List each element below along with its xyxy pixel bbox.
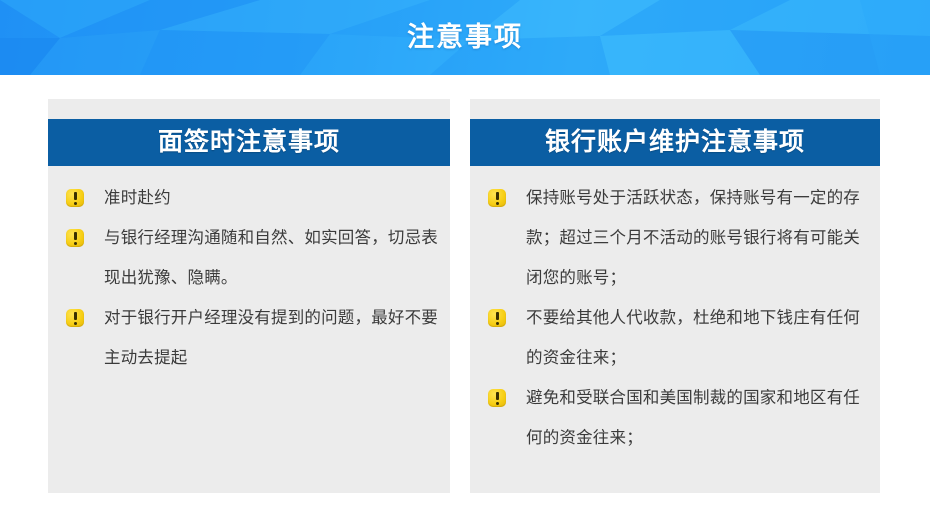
card-title-account-maintenance-notes: 银行账户维护注意事项: [470, 119, 880, 166]
page-title: 注意事项: [0, 0, 930, 75]
warning-exclamation-icon: [488, 309, 506, 327]
warning-exclamation-icon: [66, 189, 84, 207]
warning-exclamation-icon: [66, 309, 84, 327]
list-item-text: 准时赴约: [104, 189, 171, 207]
list-item-text: 避免和受联合国和美国制裁的国家和地区有任何的资金往来；: [526, 389, 860, 447]
card-header-interview-notes: 面签时注意事项: [48, 119, 450, 166]
card-account-maintenance-notes: 银行账户维护注意事项 保持账号处于活跃状态，保持账号有一定的存款；超过三个月不活…: [470, 99, 880, 493]
card-header-account-maintenance-notes: 银行账户维护注意事项: [470, 119, 880, 166]
warning-exclamation-icon: [66, 229, 84, 247]
list-item-text: 保持账号处于活跃状态，保持账号有一定的存款；超过三个月不活动的账号银行将有可能关…: [526, 189, 860, 287]
page-banner: 注意事项: [0, 0, 930, 75]
list-item: 对于银行开户经理没有提到的问题，最好不要主动去提起: [60, 298, 450, 378]
note-list-interview-notes: 准时赴约 与银行经理沟通随和自然、如实回答，切忌表现出犹豫、隐瞒。 对于银行开户…: [48, 178, 450, 378]
list-item: 准时赴约: [60, 178, 450, 218]
list-item-text: 与银行经理沟通随和自然、如实回答，切忌表现出犹豫、隐瞒。: [104, 229, 438, 287]
cards-container: 面签时注意事项 准时赴约 与银行经理沟通随和自然、如实回答，切忌表现出犹豫、隐瞒…: [0, 75, 930, 524]
list-item: 保持账号处于活跃状态，保持账号有一定的存款；超过三个月不活动的账号银行将有可能关…: [482, 178, 880, 298]
warning-exclamation-icon: [488, 189, 506, 207]
list-item-text: 不要给其他人代收款，杜绝和地下钱庄有任何的资金往来；: [526, 309, 860, 367]
warning-exclamation-icon: [488, 389, 506, 407]
note-list-account-maintenance-notes: 保持账号处于活跃状态，保持账号有一定的存款；超过三个月不活动的账号银行将有可能关…: [470, 178, 880, 458]
card-title-interview-notes: 面签时注意事项: [48, 119, 450, 166]
list-item: 与银行经理沟通随和自然、如实回答，切忌表现出犹豫、隐瞒。: [60, 218, 450, 298]
card-body-interview-notes: 准时赴约 与银行经理沟通随和自然、如实回答，切忌表现出犹豫、隐瞒。 对于银行开户…: [48, 166, 450, 378]
list-item: 不要给其他人代收款，杜绝和地下钱庄有任何的资金往来；: [482, 298, 880, 378]
list-item-text: 对于银行开户经理没有提到的问题，最好不要主动去提起: [104, 309, 438, 367]
card-interview-notes: 面签时注意事项 准时赴约 与银行经理沟通随和自然、如实回答，切忌表现出犹豫、隐瞒…: [48, 99, 450, 493]
card-body-account-maintenance-notes: 保持账号处于活跃状态，保持账号有一定的存款；超过三个月不活动的账号银行将有可能关…: [470, 166, 880, 458]
list-item: 避免和受联合国和美国制裁的国家和地区有任何的资金往来；: [482, 378, 880, 458]
